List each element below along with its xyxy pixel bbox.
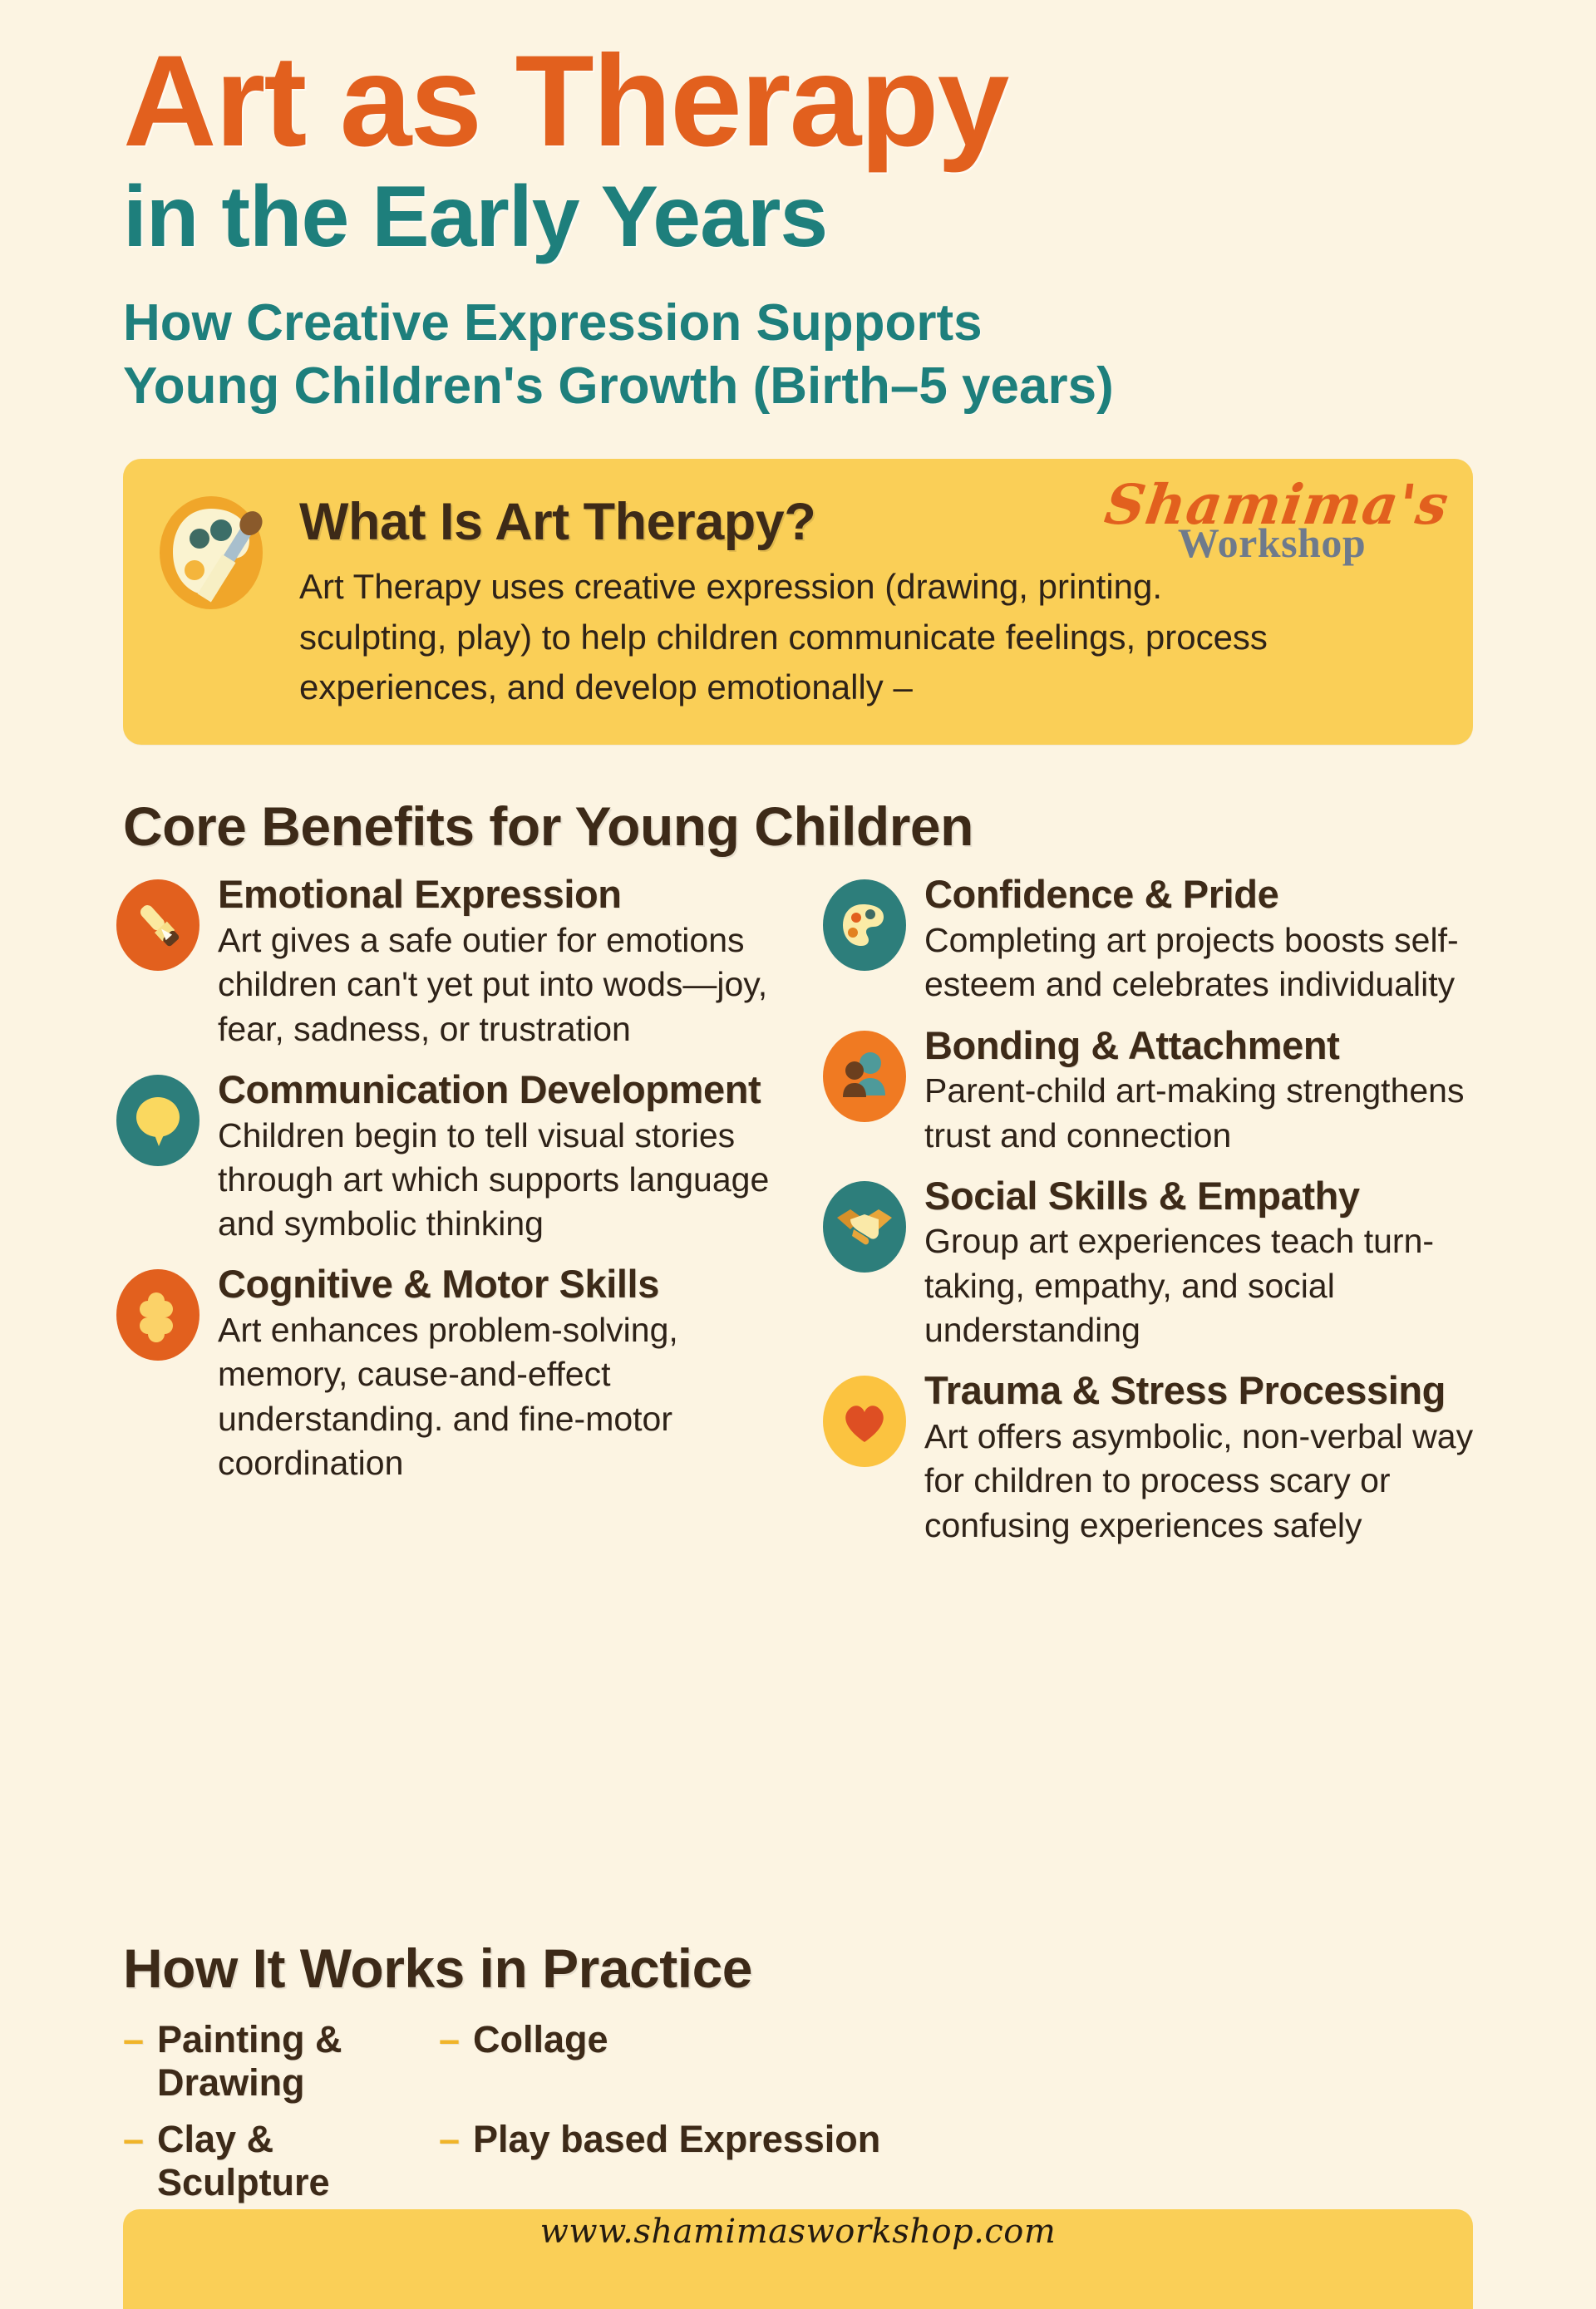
practice-item-label: Painting & Drawing bbox=[157, 2018, 422, 2105]
how-it-works-heading: How It Works in Practice bbox=[123, 1937, 954, 2000]
benefit-text: Completing art projects boosts self-este… bbox=[924, 918, 1513, 1007]
benefit-item: Confidence & Pride Completing art projec… bbox=[823, 873, 1513, 1007]
parent-child-icon bbox=[823, 1031, 906, 1122]
benefit-title: Social Skills & Empathy bbox=[924, 1174, 1513, 1219]
benefit-body: Trauma & Stress Processing Art offers as… bbox=[924, 1369, 1513, 1548]
page-title-line2: in the Early Years bbox=[123, 170, 1596, 263]
benefit-body: Emotional Expression Art gives a safe ou… bbox=[218, 873, 806, 1051]
how-it-works-section: How It Works in Practice – Painting & Dr… bbox=[123, 1937, 954, 2204]
practice-item: – Play based Expression bbox=[439, 2118, 954, 2204]
benefit-body: Social Skills & Empathy Group art experi… bbox=[924, 1174, 1513, 1353]
shamimas-workshop-logo: Shamima's Workshop bbox=[1106, 477, 1438, 585]
benefit-text: Group art experiences teach turn-taking,… bbox=[924, 1219, 1513, 1352]
benefit-text: Parent-child art-making strengthens trus… bbox=[924, 1069, 1513, 1158]
page-deck-line2: Young Children's Growth (Birth–5 years) bbox=[123, 355, 1596, 418]
benefit-text: Children begin to tell visual stories th… bbox=[218, 1114, 806, 1247]
what-is-art-therapy-callout: What Is Art Therapy? Art Therapy uses cr… bbox=[123, 459, 1473, 746]
page-header: Art as Therapy in the Early Years How Cr… bbox=[0, 0, 1596, 419]
practice-item: – Collage bbox=[439, 2018, 954, 2105]
benefit-title: Bonding & Attachment bbox=[924, 1024, 1513, 1068]
benefit-item: Social Skills & Empathy Group art experi… bbox=[823, 1174, 1513, 1353]
page-title-line1: Art as Therapy bbox=[123, 38, 1596, 165]
page-deck-line1: How Creative Expression Supports bbox=[123, 292, 1596, 355]
heart-icon bbox=[823, 1376, 906, 1467]
benefit-item: Cognitive & Motor Skills Art enhances pr… bbox=[116, 1263, 806, 1485]
core-benefits-heading: Core Benefits for Young Children bbox=[123, 795, 1596, 858]
puzzle-piece-icon bbox=[116, 1269, 199, 1361]
benefit-text: Art offers asymbolic, non-verbal way for… bbox=[924, 1415, 1513, 1548]
benefit-item: Trauma & Stress Processing Art offers as… bbox=[823, 1369, 1513, 1548]
dash-bullet-icon: – bbox=[123, 2120, 144, 2158]
benefit-body: Confidence & Pride Completing art projec… bbox=[924, 873, 1513, 1007]
paintbrush-icon bbox=[116, 879, 199, 971]
benefit-body: Bonding & Attachment Parent-child art-ma… bbox=[924, 1024, 1513, 1158]
benefit-title: Emotional Expression bbox=[218, 873, 806, 917]
benefit-title: Cognitive & Motor Skills bbox=[218, 1263, 806, 1307]
practice-item: – Painting & Drawing bbox=[123, 2018, 422, 2105]
benefits-right-column: Confidence & Pride Completing art projec… bbox=[823, 873, 1513, 1563]
benefit-title: Trauma & Stress Processing bbox=[924, 1369, 1513, 1413]
handshake-icon bbox=[823, 1181, 906, 1273]
dash-bullet-icon: – bbox=[123, 2021, 144, 2058]
footer-website-url[interactable]: www.shamimasworkshop.com bbox=[0, 2213, 1596, 2251]
page-deck: How Creative Expression Supports Young C… bbox=[123, 292, 1596, 419]
practice-list: – Painting & Drawing – Collage – Clay & … bbox=[123, 2018, 954, 2204]
benefit-item: Emotional Expression Art gives a safe ou… bbox=[116, 873, 806, 1051]
benefit-text: Art enhances problem-solving, memory, ca… bbox=[218, 1308, 806, 1485]
dash-bullet-icon: – bbox=[439, 2021, 460, 2058]
practice-item-label: Collage bbox=[473, 2018, 608, 2061]
practice-item: – Clay & Sculpture bbox=[123, 2118, 422, 2204]
benefits-left-column: Emotional Expression Art gives a safe ou… bbox=[116, 873, 806, 1563]
benefit-title: Communication Development bbox=[218, 1068, 806, 1112]
benefit-title: Confidence & Pride bbox=[924, 873, 1513, 917]
benefit-body: Cognitive & Motor Skills Art enhances pr… bbox=[218, 1263, 806, 1485]
core-benefits-grid: Emotional Expression Art gives a safe ou… bbox=[116, 873, 1513, 1563]
dash-bullet-icon: – bbox=[439, 2120, 460, 2158]
practice-item-label: Clay & Sculpture bbox=[157, 2118, 422, 2204]
palette-icon bbox=[823, 879, 906, 971]
logo-script-text: Shamima's bbox=[1101, 477, 1441, 532]
speech-bubble-icon bbox=[116, 1075, 199, 1166]
paint-palette-icon bbox=[153, 484, 278, 623]
benefit-text: Art gives a safe outier for emotions chi… bbox=[218, 918, 806, 1051]
benefit-body: Communication Development Children begin… bbox=[218, 1068, 806, 1247]
benefit-item: Bonding & Attachment Parent-child art-ma… bbox=[823, 1024, 1513, 1158]
benefit-item: Communication Development Children begin… bbox=[116, 1068, 806, 1247]
practice-item-label: Play based Expression bbox=[473, 2118, 880, 2161]
